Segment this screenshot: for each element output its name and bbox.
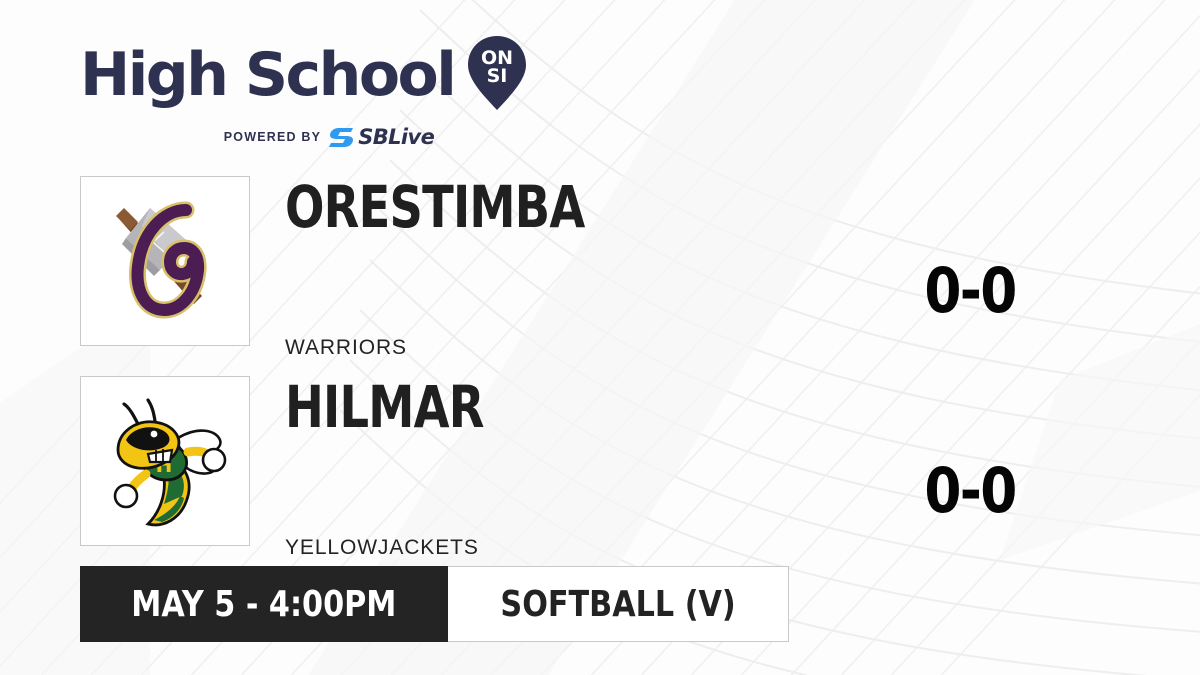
brand-row: High School ON SI xyxy=(80,32,540,117)
brand-lockup: High School ON SI POWERED BY SBLive xyxy=(80,32,540,149)
game-datetime-text: MAY 5 - 4:00PM xyxy=(131,584,396,625)
game-sport-block: SOFTBALL (V) xyxy=(448,566,789,642)
sblive-s-mark-icon xyxy=(329,126,355,148)
pin-text-si: SI xyxy=(487,65,508,87)
team-mascot-yellowjackets: YELLOWJACKETS xyxy=(285,536,479,560)
sblive-logo: SBLive xyxy=(329,125,434,149)
hilmar-yellowjackets-logo-icon: H xyxy=(90,386,240,536)
game-sport-text: SOFTBALL (V) xyxy=(500,584,735,625)
team-logo-box-hilmar: H xyxy=(80,376,250,546)
game-datetime-block: MAY 5 - 4:00PM xyxy=(80,566,448,642)
powered-by-label: POWERED BY xyxy=(224,130,321,144)
game-info-banner: MAY 5 - 4:00PM SOFTBALL (V) xyxy=(80,566,789,642)
team-logo-box-orestimba xyxy=(80,176,250,346)
team-record-hilmar: 0-0 xyxy=(901,460,1039,522)
powered-by-row: POWERED BY SBLive xyxy=(80,125,540,149)
team-name-hilmar: HILMAR xyxy=(285,378,484,436)
team-record-orestimba: 0-0 xyxy=(901,260,1039,322)
team-name-orestimba: ORESTIMBA xyxy=(285,178,584,236)
orestimba-warriors-logo-icon xyxy=(90,186,240,336)
matchup-graphic: High School ON SI POWERED BY SBLive xyxy=(0,0,1200,675)
team-mascot-warriors: WARRIORS xyxy=(285,336,407,360)
sblive-wordmark: SBLive xyxy=(358,125,434,149)
brand-wordmark: High School xyxy=(80,45,454,105)
on-si-pin-icon: ON SI xyxy=(466,34,528,117)
on-si-pin-svg: ON SI xyxy=(466,34,528,112)
